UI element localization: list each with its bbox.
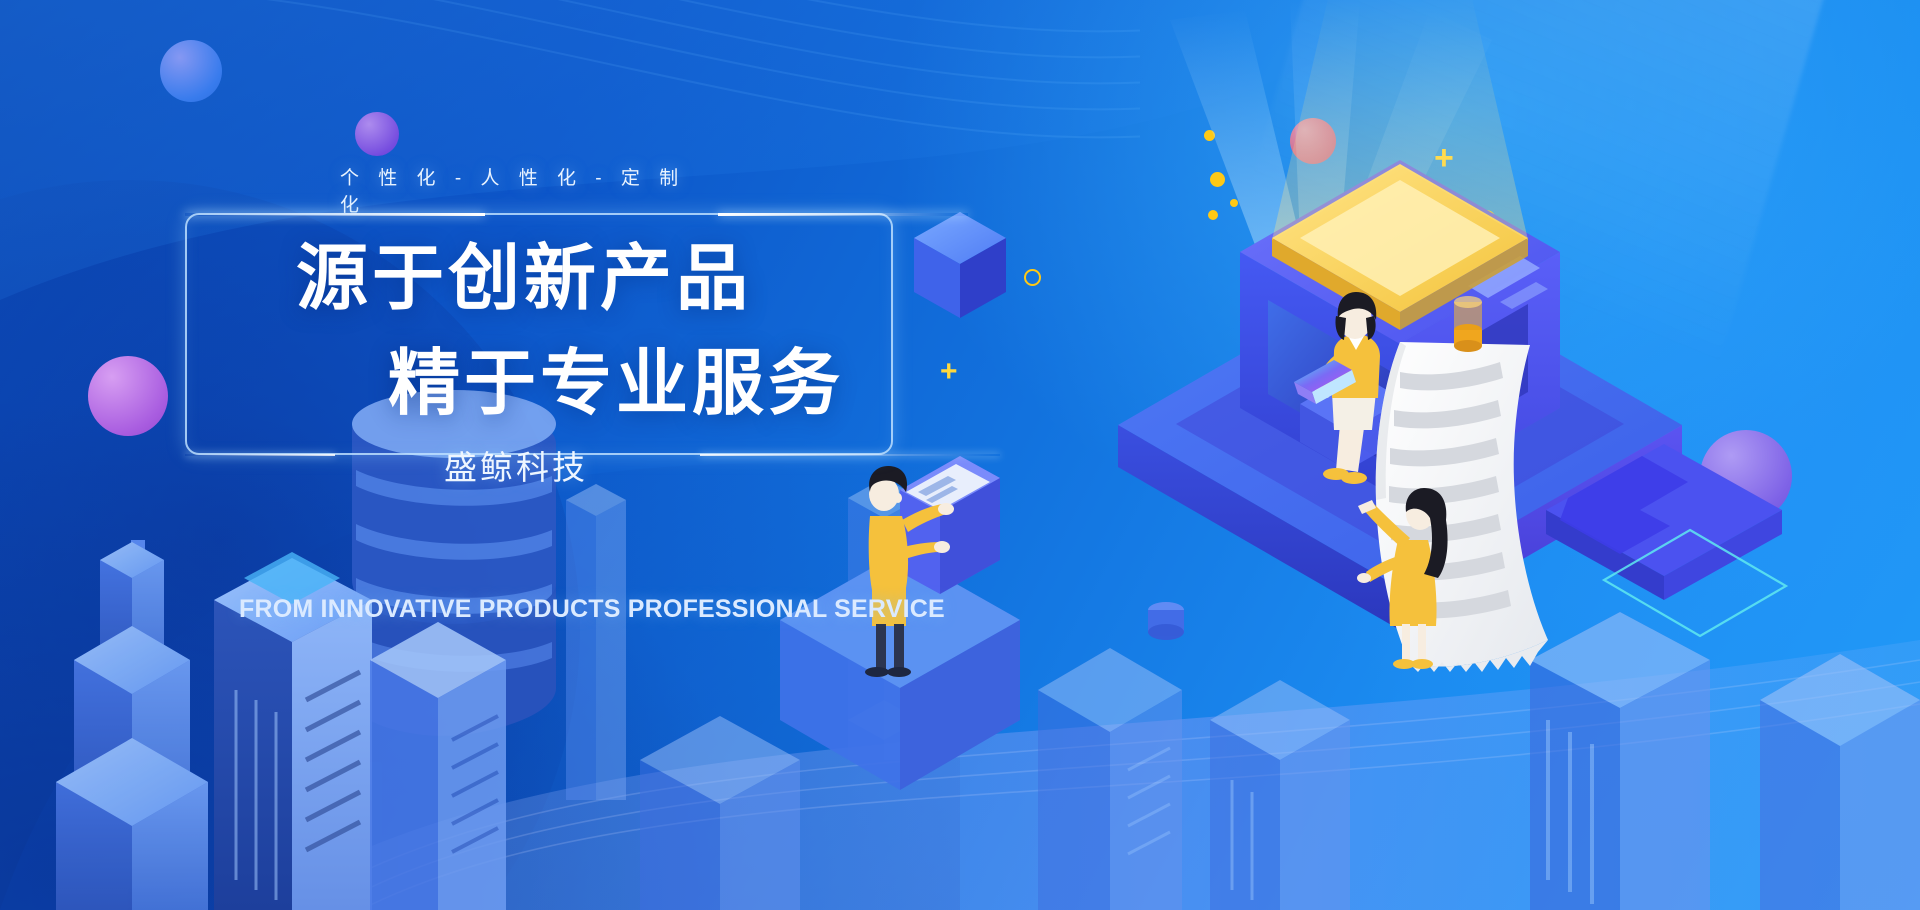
- frame-accent-line-top-left: [185, 213, 485, 216]
- frame-accent-line-bottom-left: [185, 454, 335, 456]
- accent-dot: [1352, 300, 1361, 309]
- plus-icon: +: [940, 357, 958, 387]
- english-subtitle: FROM INNOVATIVE PRODUCTS PROFESSIONAL SE…: [239, 595, 945, 624]
- yellow-cylinder: [1454, 296, 1482, 352]
- seated-woman-with-laptop: [1294, 292, 1380, 484]
- glow-rays: [1170, 0, 1492, 248]
- accent-ring: [1024, 269, 1041, 286]
- decorative-sphere-purple-small: [355, 112, 399, 156]
- accent-dot: [1476, 210, 1496, 230]
- standing-woman-pointing: [1357, 488, 1448, 669]
- accent-dot: [1230, 199, 1238, 207]
- accent-dot: [1338, 288, 1351, 301]
- small-blue-cylinder: [1148, 602, 1184, 640]
- long-printed-receipt: [1376, 342, 1548, 672]
- top-right-light-beam: [1200, 0, 1840, 360]
- floating-cube: [914, 212, 1006, 318]
- decorative-sphere-pink: [1290, 118, 1336, 164]
- server-box: [1240, 0, 1560, 500]
- accent-dot: [1497, 238, 1508, 249]
- accent-dot: [1210, 172, 1225, 187]
- banner-tagline: 个 性 化 - 人 性 化 - 定 制 化: [340, 163, 720, 217]
- tick-icon: +: [1390, 225, 1403, 247]
- accent-dot: [1204, 130, 1215, 141]
- bottom-left-shadow: [0, 390, 760, 910]
- decorative-sphere-pink-large: [88, 356, 168, 436]
- hero-banner: + + + −: [0, 0, 1920, 910]
- decorative-sphere-blue: [160, 40, 222, 102]
- accent-dot: [1208, 210, 1218, 220]
- tick-icon: −: [1434, 238, 1447, 260]
- right-platform: [1546, 444, 1786, 636]
- frame-accent-line-top-right: [718, 213, 968, 216]
- main-platform: [1118, 262, 1682, 630]
- headline-line-2: 精于专业服务: [388, 348, 844, 420]
- company-name: 盛鲸科技: [444, 441, 588, 489]
- plus-icon: +: [1434, 141, 1454, 175]
- headline-line-1: 源于创新产品: [296, 243, 752, 315]
- accent-dot: [1504, 300, 1518, 314]
- frame-accent-line-bottom-right: [700, 454, 1000, 456]
- decorative-sphere-violet: [1700, 430, 1792, 522]
